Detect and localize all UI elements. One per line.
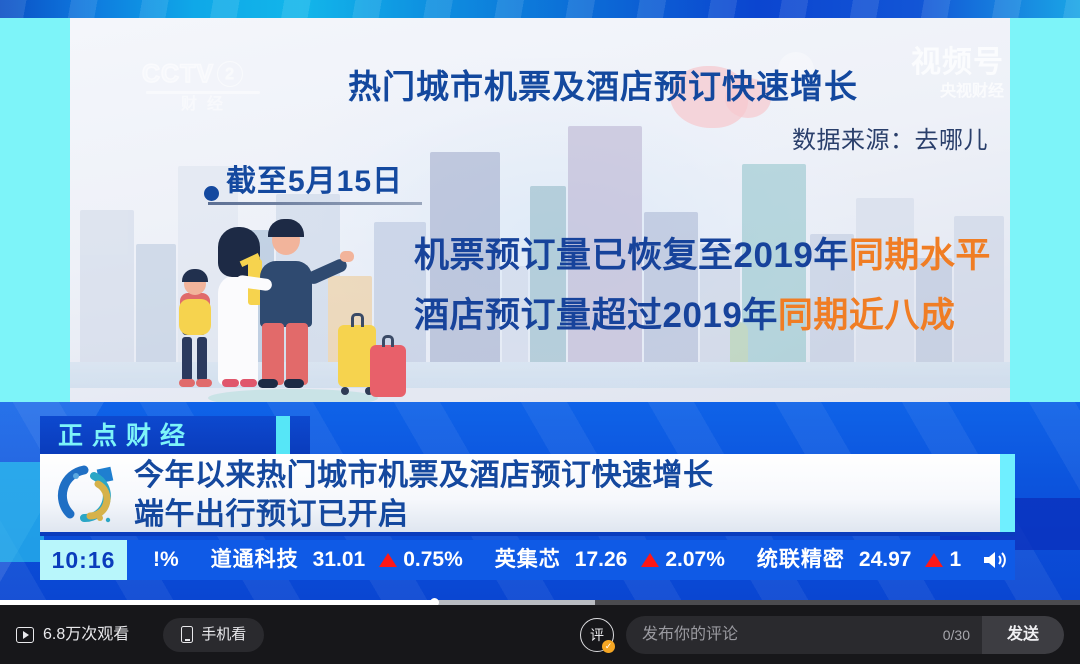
video-player: CCTV 2 财经 视频号 央视财经 热门城市机票及酒店预订快速增长 数据来源：… [0, 0, 1080, 664]
triangle-up-icon [925, 553, 943, 567]
broadcast-clock: 10:16 [40, 540, 127, 580]
date-marker-text: 截至5月15日 [226, 164, 422, 200]
ticker-stock-name: 道通科技 [211, 540, 299, 580]
right-cyan-band [1010, 18, 1080, 402]
player-control-bar: 6.8万次观看 手机看 评 ✓ 0/30 发送 [0, 605, 1080, 664]
comment-avatar-icon[interactable]: 评 ✓ [580, 618, 614, 652]
ticker-stock-name: 统联精密 [757, 540, 845, 580]
statement-flight-prefix: 机票预订量已恢复至2019年 [414, 236, 849, 275]
date-marker-underline [208, 202, 422, 205]
comment-area: 评 ✓ 0/30 发送 [580, 616, 1064, 654]
mobile-phone-icon [181, 626, 193, 643]
triangle-up-icon [641, 553, 659, 567]
ticker-fragment-text: !% [153, 540, 179, 580]
cctv-logo-subtitle: 财经 [142, 96, 272, 114]
video-stage[interactable]: CCTV 2 财经 视频号 央视财经 热门城市机票及酒店预订快速增长 数据来源：… [0, 0, 1080, 600]
ticker-items: !% 道通科技 31.01 0.75% 英集芯 17.26 [127, 540, 977, 580]
program-name-tag: 正点财经 [40, 416, 310, 454]
statement-hotel-highlight: 同期近八成 [778, 296, 956, 335]
cctv-logo-text: CCTV [142, 60, 214, 88]
top-gradient-strip [0, 0, 1080, 18]
watch-on-phone-label: 手机看 [201, 626, 246, 644]
ticker-stock-price: 31.01 [313, 540, 366, 580]
infographic-panel: CCTV 2 财经 视频号 央视财经 热门城市机票及酒店预订快速增长 数据来源：… [70, 18, 1010, 402]
ticker-stock-name: 英集芯 [495, 540, 561, 580]
watch-on-phone-button[interactable]: 手机看 [163, 618, 264, 652]
ticker-change-value: 1 [949, 540, 961, 580]
view-count: 6.8万次观看 [16, 625, 129, 645]
bullet-dot-icon [204, 186, 219, 201]
statement-hotel: 酒店预订量超过2019年同期近八成 [414, 294, 955, 338]
ticker-stock-change: 2.07% [641, 540, 725, 580]
view-count-label: 6.8万次观看 [43, 625, 129, 645]
program-tag-accent [276, 416, 290, 454]
ticker-item: 统联精密 24.97 1 [741, 540, 977, 580]
comment-char-count: 0/30 [943, 616, 982, 654]
ticker-change-value: 0.75% [403, 540, 463, 580]
ticker-stock-price: 24.97 [859, 540, 912, 580]
triangle-up-icon [379, 553, 397, 567]
comment-avatar-text: 评 [590, 627, 604, 643]
comment-input[interactable] [626, 616, 943, 654]
news-box-cyan-edge [1000, 454, 1015, 532]
data-source-label: 数据来源：去哪儿 [348, 126, 988, 156]
infographic-headline: 热门城市机票及酒店预订快速增长 [348, 66, 988, 108]
news-headline-line1: 今年以来热门城市机票及酒店预订快速增长 [134, 456, 984, 495]
news-headline-text: 今年以来热门城市机票及酒店预订快速增长 端午出行预订已开启 [134, 456, 984, 534]
program-name-text: 正点财经 [58, 421, 194, 451]
cctv-channel-logo: CCTV 2 财经 [142, 60, 272, 122]
ticker-stock-change: 0.75% [379, 540, 463, 580]
cctv-logo-underline [146, 91, 260, 94]
cctv-finance-swirl-logo-icon [54, 462, 120, 526]
statement-flight: 机票预订量已恢复至2019年同期水平 [414, 234, 991, 278]
statement-flight-highlight: 同期水平 [849, 236, 991, 275]
ticker-item: 英集芯 17.26 2.07% [479, 540, 741, 580]
news-lower-third: 正点财经 今年以来热门城市机票及酒店预订快速增长 端午出行预订已开启 [0, 402, 1080, 600]
stock-ticker-strip: 10:16 !% 道通科技 31.01 0.75% 英集芯 [40, 540, 1015, 580]
speaker-volume-icon[interactable] [981, 548, 1009, 572]
ticker-stock-change: 1 [925, 540, 961, 580]
ticker-item: 道通科技 31.01 0.75% [195, 540, 479, 580]
play-count-icon [16, 627, 34, 643]
ticker-leading-fragment: !% [137, 540, 195, 580]
family-travelers-illustration [160, 213, 420, 402]
left-cyan-band [0, 18, 70, 402]
ticker-stock-price: 17.26 [575, 540, 628, 580]
verified-check-icon: ✓ [602, 640, 615, 653]
news-headline-box: 今年以来热门城市机票及酒店预订快速增长 端午出行预订已开启 [40, 454, 1015, 536]
date-marker: 截至5月15日 [204, 164, 422, 205]
statement-hotel-prefix: 酒店预订量超过2019年 [414, 296, 778, 335]
send-comment-button[interactable]: 发送 [982, 616, 1064, 654]
ticker-change-value: 2.07% [665, 540, 725, 580]
news-headline-line2: 端午出行预订已开启 [134, 495, 984, 534]
comment-field[interactable]: 0/30 发送 [626, 616, 1064, 654]
cctv-logo-number: 2 [217, 61, 243, 87]
